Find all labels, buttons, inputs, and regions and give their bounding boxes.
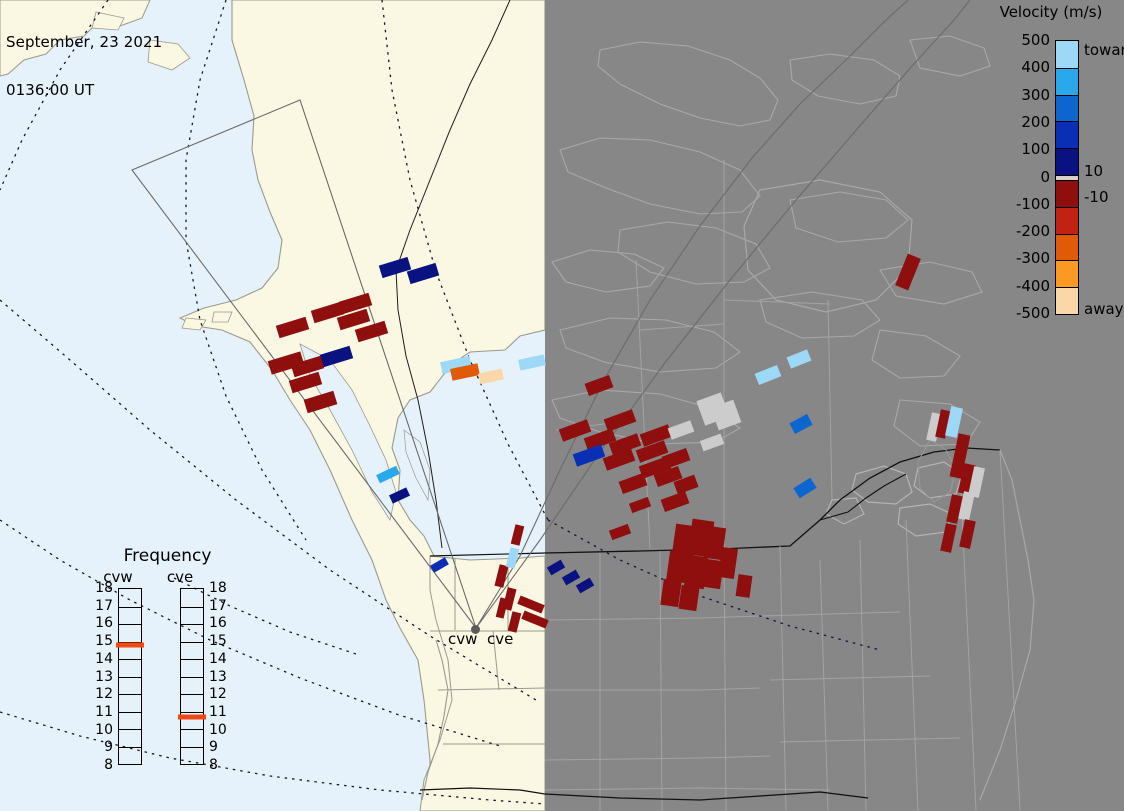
frequency-cell: [181, 747, 203, 765]
colorbar-title: Velocity (m/s): [978, 3, 1124, 21]
colorbar-tick-400: 400: [970, 58, 1050, 76]
radar-cell: [603, 448, 636, 470]
colorbar-band-7: [1056, 207, 1078, 234]
colorbar-label-away: away: [1084, 300, 1124, 318]
radar-cell: [940, 523, 957, 553]
colorbar-tick-500: 500: [970, 31, 1050, 49]
frequency-tick-cvw-14: 14: [91, 651, 113, 667]
colorbar-band-10: [1056, 287, 1078, 314]
colorbar-tick-0: 0: [970, 168, 1050, 186]
radar-cell: [511, 524, 525, 546]
colorbar-tick-100: 100: [970, 140, 1050, 158]
frequency-tick-cvw-13: 13: [91, 669, 113, 685]
radar-cell: [585, 375, 614, 396]
frequency-tick-cvw-18: 18: [91, 580, 113, 596]
frequency-marker-cve: [178, 715, 206, 720]
frequency-tick-cvw-8: 8: [91, 757, 113, 773]
radar-cell: [517, 595, 544, 613]
radar-cell: [562, 570, 580, 586]
frequency-tick-cve-12: 12: [209, 686, 231, 702]
radar-cell: [787, 349, 812, 368]
radar-cell: [609, 524, 631, 540]
timestamp: September, 23 2021 0136:00 UT: [6, 2, 162, 130]
colorbar-band-3: [1056, 121, 1078, 148]
radar-cell: [718, 547, 738, 579]
frequency-cell: [119, 677, 141, 695]
radar-cell: [793, 478, 816, 499]
radar-cell: [736, 574, 753, 598]
frequency-cell: [181, 659, 203, 677]
colorbar-tick-200: 200: [970, 113, 1050, 131]
radar-cell: [619, 473, 648, 494]
timestamp-date: September, 23 2021: [6, 34, 162, 50]
colorbar-tick--500: -500: [970, 304, 1050, 322]
colorbar-band-2: [1056, 95, 1078, 122]
frequency-tick-cvw-9: 9: [91, 739, 113, 755]
colorbar-band-6: [1056, 180, 1078, 207]
frequency-tick-cvw-17: 17: [91, 598, 113, 614]
colorbar-tick--200: -200: [970, 222, 1050, 240]
frequency-cell: [119, 729, 141, 747]
frequency-marker-cvw: [116, 642, 144, 647]
radar-cell: [494, 564, 508, 588]
frequency-cell: [181, 694, 203, 712]
frequency-tick-cve-17: 17: [209, 598, 231, 614]
frequency-tick-cve-10: 10: [209, 722, 231, 738]
radar-cell: [755, 365, 782, 385]
radar-cell: [521, 610, 548, 628]
radar-cell: [573, 444, 606, 466]
frequency-cell: [119, 659, 141, 677]
frequency-tick-cvw-11: 11: [91, 704, 113, 720]
frequency-tick-cve-9: 9: [209, 739, 231, 755]
radar-cell: [700, 434, 724, 452]
frequency-cell: [119, 607, 141, 625]
radar-cell: [629, 497, 651, 513]
frequency-tick-cve-18: 18: [209, 580, 231, 596]
colorbar-label-neg-threshold: -10: [1084, 188, 1109, 206]
colorbar-tick-labels: 5004003002001000-100-200-300-400-500: [970, 24, 1050, 324]
radar-cell: [276, 317, 309, 338]
frequency-cell: [181, 677, 203, 695]
frequency-cell: [119, 624, 141, 642]
radar-cell: [668, 420, 695, 439]
frequency-tick-cve-14: 14: [209, 651, 231, 667]
radar-cell: [895, 254, 921, 291]
frequency-cvw-scale: [118, 588, 142, 765]
colorbar-band-9: [1056, 260, 1078, 287]
frequency-cell: [119, 589, 141, 607]
radar-cell: [547, 560, 565, 576]
colorbar-band-0: [1056, 41, 1078, 68]
frequency-tick-cve-11: 11: [209, 704, 231, 720]
radar-cell: [576, 578, 594, 594]
radar-cell: [678, 585, 699, 611]
radar-cell: [789, 414, 812, 434]
frequency-tick-cvw-16: 16: [91, 615, 113, 631]
colorbar-side-labels: toward 10 -10 away: [1082, 24, 1124, 324]
frequency-cell: [181, 642, 203, 660]
frequency-cell: [181, 729, 203, 747]
colorbar-tick-300: 300: [970, 86, 1050, 104]
colorbar-label-toward: toward: [1084, 41, 1124, 59]
frequency-tick-cvw-15: 15: [91, 633, 113, 649]
frequency-cvw-ticklabels: 18171615141312111098: [91, 588, 113, 765]
colorbar-band-4: [1056, 148, 1078, 175]
timestamp-time: 0136:00 UT: [6, 82, 162, 98]
frequency-cell: [119, 712, 141, 730]
colorbar-tick--300: -300: [970, 249, 1050, 267]
radar-cell: [506, 547, 520, 569]
frequency-legend-title: Frequency: [85, 546, 250, 566]
radar-cell: [661, 491, 690, 512]
frequency-tick-cve-16: 16: [209, 615, 231, 631]
station-label-cve: cve: [487, 630, 513, 648]
frequency-tick-cvw-10: 10: [91, 722, 113, 738]
frequency-cell: [181, 589, 203, 607]
station-label-cvw: cvw: [448, 630, 477, 648]
frequency-cell: [119, 694, 141, 712]
radar-cell: [379, 257, 411, 278]
frequency-tick-cve-8: 8: [209, 757, 231, 773]
frequency-legend: Frequency cvw 18171615141312111098 cve 1…: [85, 546, 250, 778]
radar-cell: [320, 346, 353, 367]
frequency-cve-scale: [180, 588, 204, 765]
radar-cell: [304, 391, 338, 413]
frequency-cve-ticklabels: 18171615141312111098: [209, 588, 231, 765]
radar-cell: [478, 369, 504, 385]
frequency-tick-cvw-12: 12: [91, 686, 113, 702]
radar-cell: [389, 487, 410, 503]
frequency-tick-cve-15: 15: [209, 633, 231, 649]
radar-cell: [959, 519, 976, 549]
radar-cell: [407, 263, 439, 284]
radar-cell: [376, 466, 400, 483]
radar-map-figure: cvw cve September, 23 2021 0136:00 UT Ve…: [0, 0, 1124, 811]
colorbar-band-1: [1056, 68, 1078, 95]
frequency-cell: [181, 607, 203, 625]
colorbar-tick--100: -100: [970, 195, 1050, 213]
colorbar-tick--400: -400: [970, 277, 1050, 295]
frequency-cell: [181, 624, 203, 642]
velocity-colorbar: Velocity (m/s) 5004003002001000-100-200-…: [970, 0, 1124, 340]
colorbar-label-pos-threshold: 10: [1084, 162, 1103, 180]
radar-cell: [518, 354, 546, 370]
colorbar-gradient: [1055, 40, 1079, 315]
radar-cell: [430, 557, 449, 572]
colorbar-band-8: [1056, 234, 1078, 261]
frequency-column-cve-header: cve: [167, 568, 193, 586]
frequency-tick-cve-13: 13: [209, 669, 231, 685]
frequency-cell: [119, 747, 141, 765]
